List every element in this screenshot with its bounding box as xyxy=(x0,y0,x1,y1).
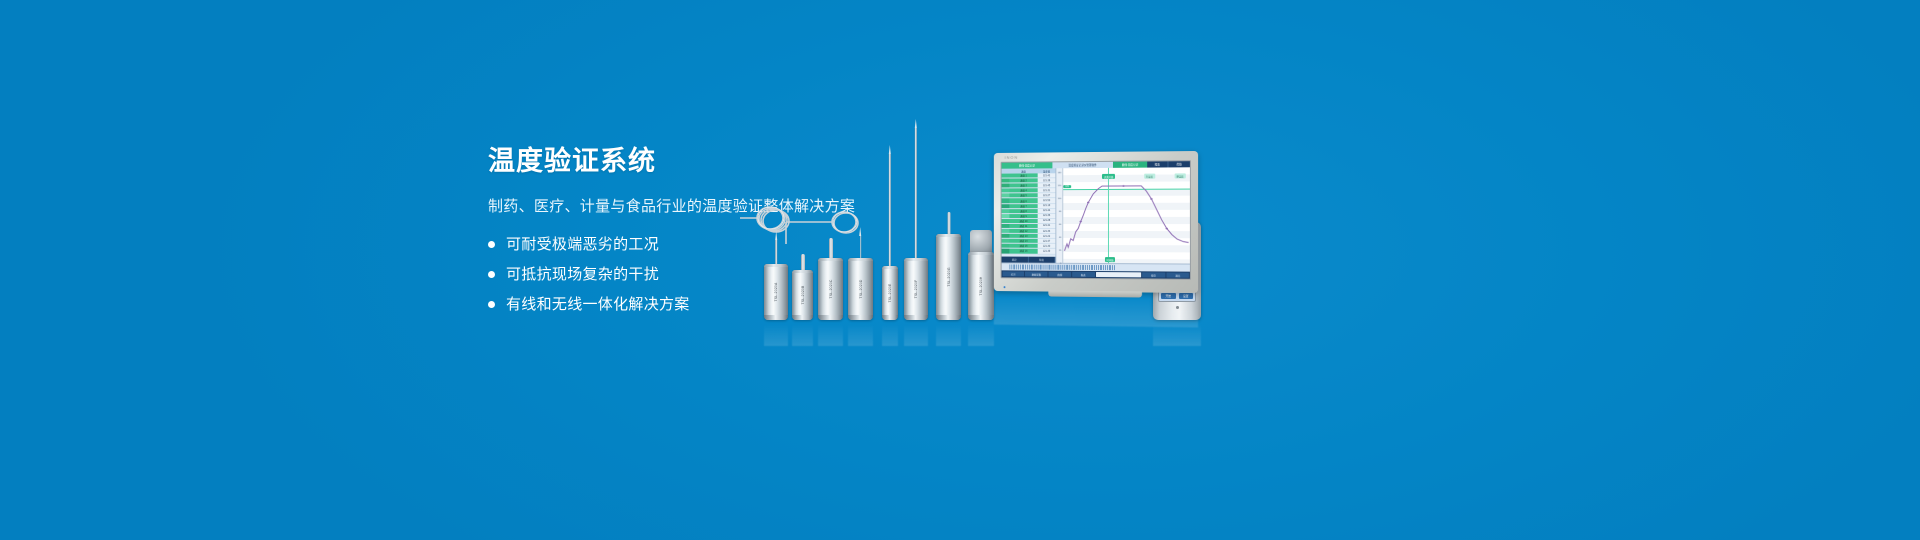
reflection xyxy=(994,291,1198,328)
channel-value: 121.42 xyxy=(1038,173,1056,177)
plot-area[interactable]: 灭菌开始 升温段 降温段 121 时间轴 xyxy=(1063,167,1190,263)
series-color-swatch xyxy=(1002,199,1010,203)
series-color-swatch xyxy=(1002,244,1010,248)
bullet-dot-icon xyxy=(488,301,495,308)
feature-label: 有线和无线一体化解决方案 xyxy=(506,297,690,312)
series-color-swatch xyxy=(1002,184,1010,188)
toolbar-save-button[interactable]: 保存 xyxy=(1142,272,1165,278)
channel-name: 通道 12 xyxy=(1009,229,1037,233)
channel-name: 通道 5 xyxy=(1009,194,1037,198)
bullet-dot-icon xyxy=(488,241,495,248)
logger-label: TSL-2020C xyxy=(829,279,833,298)
temperature-chart[interactable]: 140 120 100 80 60 40 20 0 灭菌开始 xyxy=(1056,167,1190,263)
logger-body: TSL-2020E xyxy=(882,266,898,320)
logger-label: TSL-2020H xyxy=(979,276,983,295)
table-row[interactable]: 通道 16 121.39 xyxy=(1002,249,1056,254)
series-color-swatch xyxy=(1002,204,1010,208)
reflection xyxy=(904,320,928,346)
channel-value: 121.36 xyxy=(1038,214,1056,218)
y-axis: 140 120 100 80 60 40 20 0 xyxy=(1056,168,1063,263)
logger-tall-7: TSL-2020G xyxy=(936,234,961,320)
series-color-swatch xyxy=(1002,229,1010,233)
channel-name: 通道 8 xyxy=(1009,209,1037,213)
probe-stub xyxy=(801,254,805,270)
logger-label: TSL-2020B xyxy=(801,286,805,305)
reflection xyxy=(936,320,961,346)
series-color-swatch xyxy=(1002,189,1010,193)
channel-name: 通道 9 xyxy=(1009,214,1037,218)
logger-label: TSL-2020E xyxy=(888,284,892,303)
channel-name: 通道 2 xyxy=(1009,178,1037,182)
channel-name: 通道 10 xyxy=(1009,219,1037,223)
needle-probe xyxy=(889,154,891,266)
series-color-swatch xyxy=(1002,249,1010,253)
feature-label: 可抵抗现场复杂的干扰 xyxy=(506,267,659,282)
toolbar-report-button[interactable]: 报表 xyxy=(1072,272,1095,278)
series-color-swatch xyxy=(1002,239,1010,243)
channel-name: 通道 1 xyxy=(1009,173,1037,177)
logger-body: TSL-2020B xyxy=(792,270,813,320)
channel-name: 通道 14 xyxy=(1009,239,1037,243)
logger-label: TSL-2020G xyxy=(947,267,951,286)
power-led-icon xyxy=(1004,286,1006,288)
logger-mesh-8: TSL-2020H xyxy=(968,252,994,320)
channel-value: 121.30 xyxy=(1038,244,1056,248)
probe-wire xyxy=(775,240,777,264)
toolbar-open-button[interactable]: 打开 xyxy=(1002,271,1024,277)
channel-name: 通道 7 xyxy=(1009,204,1037,208)
probe-stub xyxy=(829,238,833,258)
logger-needle-5: TSL-2020E xyxy=(882,266,898,320)
channel-value: 121.22 xyxy=(1038,234,1056,238)
channel-value: 121.44 xyxy=(1038,209,1056,213)
probe-stub xyxy=(947,212,950,234)
logger-body: TSL-2020F xyxy=(904,258,928,320)
series-color-swatch xyxy=(1002,174,1010,178)
series-color-swatch xyxy=(1002,219,1010,223)
logger-short-2: TSL-2020B xyxy=(792,270,813,320)
y-tick: 120 xyxy=(1058,185,1062,187)
channel-value: 121.38 xyxy=(1038,178,1056,182)
y-tick: 100 xyxy=(1058,198,1062,200)
y-tick: 80 xyxy=(1059,211,1061,213)
logger-label: TSL-2020D xyxy=(859,279,863,298)
logger-body: TSL-2020H xyxy=(968,252,994,320)
logger-body: TSL-2020D xyxy=(848,258,873,320)
channel-value: 121.47 xyxy=(1038,239,1056,243)
toolbar-curve-button[interactable]: 曲线 xyxy=(1049,271,1071,277)
series-color-swatch xyxy=(1002,234,1010,238)
table-body: 通道 1 121.42 通道 2 121.38 通道 3 xyxy=(1002,173,1056,257)
monitor-brand: INON xyxy=(1005,155,1019,160)
series-color-swatch xyxy=(1002,194,1010,198)
reflection xyxy=(818,320,843,346)
software-window[interactable]: 曲线-温度记录 温度验证记录仪管理软件 曲线-温度记录 报表 帮助 通道 温度值 xyxy=(1001,160,1191,280)
coiled-cable-icon xyxy=(740,198,870,246)
reflection xyxy=(882,320,898,346)
channel-name: 通道 6 xyxy=(1009,199,1037,203)
channel-name: 通道 3 xyxy=(1009,183,1037,187)
needle-probe xyxy=(915,128,917,258)
y-tick: 20 xyxy=(1059,250,1061,252)
logger-short-3: TSL-2020C xyxy=(818,258,843,320)
channel-value: 121.39 xyxy=(1038,249,1056,253)
sintered-filter-cap xyxy=(970,230,992,252)
chart-line-svg xyxy=(1063,167,1190,263)
logger-coiled-probe-4: TSL-2020D xyxy=(848,258,873,320)
logger-body: TSL-2020C xyxy=(818,258,843,320)
bullet-dot-icon xyxy=(488,271,495,278)
channel-value: 121.27 xyxy=(1038,194,1056,198)
channel-name: 通道 4 xyxy=(1009,189,1037,193)
y-tick: 0 xyxy=(1060,263,1061,265)
channel-value: 121.41 xyxy=(1038,224,1056,228)
logger-label: TSL-2020F xyxy=(914,280,918,299)
y-tick: 40 xyxy=(1059,237,1061,239)
product-stage: TSL-2020A TSL-2020B TSL-2020C TSL-2020D xyxy=(720,110,1220,320)
reflection xyxy=(848,320,873,346)
monitor-display: INON 曲线-温度记录 温度验证记录仪管理软件 曲线-温度记录 报表 帮助 通 xyxy=(994,151,1198,293)
product-banner: 温度验证系统 制药、医疗、计量与食品行业的温度验证整体解决方案 可耐受极端恶劣的… xyxy=(0,0,1920,540)
logger-body: TSL-2020G xyxy=(936,234,961,320)
channel-value: 121.50 xyxy=(1038,199,1056,203)
logger-needle-6: TSL-2020F xyxy=(904,258,928,320)
y-tick: 140 xyxy=(1058,172,1062,174)
reflection xyxy=(968,320,994,346)
series-color-swatch xyxy=(1002,209,1010,213)
logger-coiled-probe-1: TSL-2020A xyxy=(764,264,788,320)
logger-body: TSL-2020A xyxy=(764,264,788,320)
channel-name: 通道 11 xyxy=(1009,224,1037,228)
toolbar-exit-button[interactable]: 退出 xyxy=(1166,272,1189,278)
series-color-swatch xyxy=(1002,179,1010,183)
y-tick: 60 xyxy=(1059,224,1061,226)
toolbar-acquire-button[interactable]: 数据采集 xyxy=(1025,271,1047,277)
probe-wire xyxy=(860,236,862,258)
feature-label: 可耐受极端恶劣的工况 xyxy=(506,237,659,252)
series-color-swatch xyxy=(1002,224,1010,228)
toolbar-spacer xyxy=(1095,272,1141,278)
software-body: 通道 温度值 通道 1 121.42 通道 2 xyxy=(1002,167,1190,263)
software-toolbar: 打开 数据采集 曲线 报表 保存 退出 xyxy=(1002,270,1190,278)
channel-value: 121.28 xyxy=(1038,219,1056,223)
channel-table[interactable]: 通道 温度值 通道 1 121.42 通道 2 xyxy=(1002,168,1057,262)
reflection xyxy=(792,320,813,346)
series-color-swatch xyxy=(1002,214,1010,218)
channel-name: 通道 13 xyxy=(1009,234,1037,238)
channel-value: 121.33 xyxy=(1038,229,1056,233)
channel-value: 121.45 xyxy=(1038,183,1056,187)
channel-name: 通道 15 xyxy=(1009,244,1037,248)
reflection xyxy=(764,320,788,346)
logger-label: TSL-2020A xyxy=(774,283,778,302)
channel-name: 通道 16 xyxy=(1009,249,1037,253)
channel-value: 121.31 xyxy=(1038,188,1056,192)
channel-value: 121.19 xyxy=(1038,204,1056,208)
